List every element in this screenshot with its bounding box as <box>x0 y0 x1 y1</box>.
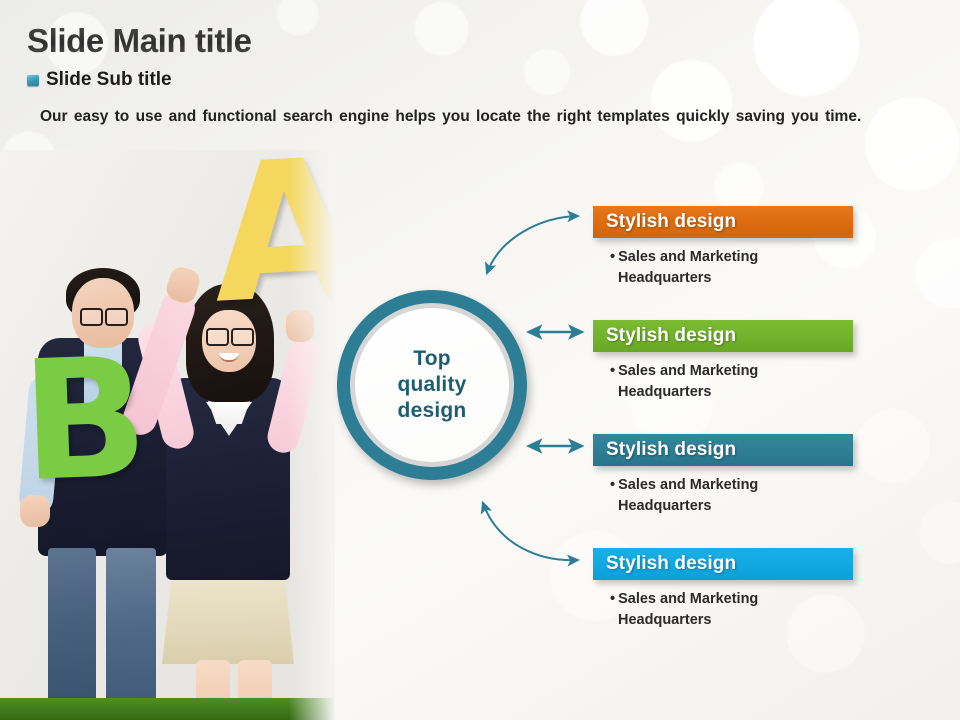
students-photo: A B <box>0 150 335 720</box>
arrow-connector-1 <box>487 216 578 273</box>
item-desc-line2: Headquarters <box>618 496 853 517</box>
item-desc-line1: Sales and Marketing <box>618 363 758 379</box>
item-description-1: •Sales and Marketing Headquarters <box>610 247 853 288</box>
square-bullet-icon <box>27 74 39 86</box>
item-desc-line1: Sales and Marketing <box>618 477 758 493</box>
bullet-dot-icon: • <box>610 361 615 382</box>
boy-glasses-icon <box>80 308 128 322</box>
page-subtitle: Slide Sub title <box>46 69 172 91</box>
bullet-dot-icon: • <box>610 247 615 268</box>
content-item-3[interactable]: Stylish design •Sales and Marketing Head… <box>593 434 853 516</box>
circle-label-line2: quality <box>397 372 466 398</box>
circle-label-line1: Top <box>397 346 466 372</box>
circle-label: Top quality design <box>397 346 466 424</box>
boy-jeans-right <box>106 548 156 700</box>
item-desc-line2: Headquarters <box>618 610 853 631</box>
circle-inner-face: Top quality design <box>355 308 509 462</box>
grass-strip <box>0 698 335 720</box>
item-desc-line2: Headquarters <box>618 268 853 289</box>
boy-jeans-left <box>48 548 96 700</box>
item-desc-line1: Sales and Marketing <box>618 591 758 607</box>
item-description-4: •Sales and Marketing Headquarters <box>610 589 853 630</box>
content-item-1[interactable]: Stylish design •Sales and Marketing Head… <box>593 206 853 288</box>
arrow-connector-4 <box>483 503 578 560</box>
circle-label-line3: design <box>397 398 466 424</box>
content-item-2[interactable]: Stylish design •Sales and Marketing Head… <box>593 320 853 402</box>
boy-left-hand <box>20 495 50 527</box>
item-description-3: •Sales and Marketing Headquarters <box>610 475 853 516</box>
item-title-bar-4[interactable]: Stylish design <box>593 548 853 580</box>
intro-paragraph: Our easy to use and functional search en… <box>40 106 910 129</box>
girl-skirt <box>162 568 294 664</box>
content-item-4[interactable]: Stylish design •Sales and Marketing Head… <box>593 548 853 630</box>
bullet-dot-icon: • <box>610 589 615 610</box>
page-title: Slide Main title <box>27 22 252 60</box>
item-desc-line1: Sales and Marketing <box>618 249 758 265</box>
bullet-dot-icon: • <box>610 475 615 496</box>
item-title-bar-3[interactable]: Stylish design <box>593 434 853 466</box>
item-title-bar-1[interactable]: Stylish design <box>593 206 853 238</box>
center-circle[interactable]: Top quality design <box>337 290 527 480</box>
photo-right-fade <box>289 150 335 720</box>
item-description-2: •Sales and Marketing Headquarters <box>610 361 853 402</box>
slide-canvas: A B Slide Main title Slide Sub title Our… <box>0 0 960 720</box>
subtitle-row: Slide Sub title <box>27 69 172 91</box>
item-desc-line2: Headquarters <box>618 382 853 403</box>
item-title-bar-2[interactable]: Stylish design <box>593 320 853 352</box>
letter-b-prop: B <box>19 343 135 507</box>
